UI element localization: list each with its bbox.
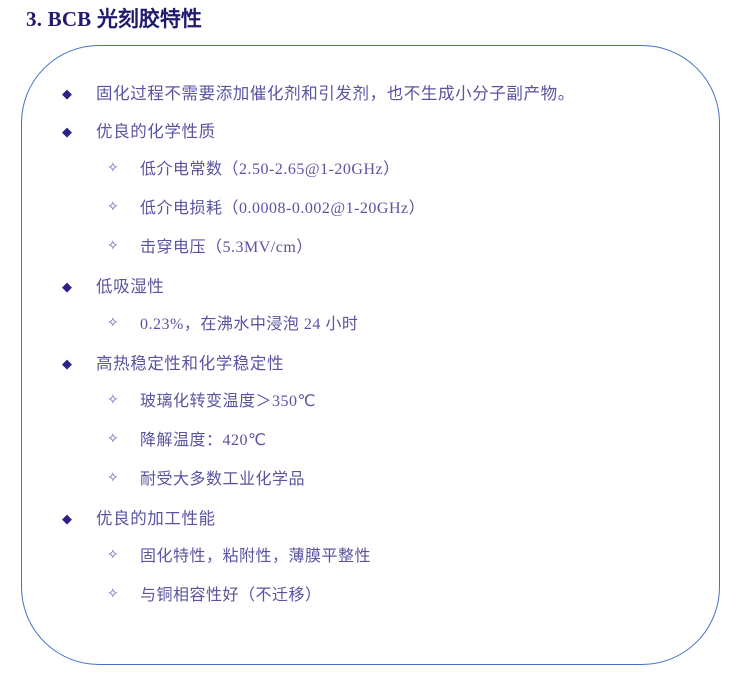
- bullet-text: 低介电常数（2.50-2.65@1-20GHz）: [140, 158, 719, 181]
- open-diamond-bullet-icon: ✧: [107, 390, 140, 408]
- bullet-item-level1: ◆固化过程不需要添加催化剂和引发剂，也不生成小分子副产物。: [22, 82, 719, 105]
- open-diamond-bullet-icon: ✧: [107, 545, 140, 563]
- bullet-text: 优良的加工性能: [96, 507, 719, 530]
- slide-canvas: 3. BCB 光刻胶特性 ◆固化过程不需要添加催化剂和引发剂，也不生成小分子副产…: [0, 0, 744, 673]
- bullet-text: 降解温度：420℃: [140, 429, 719, 452]
- bullet-item-level2: ✧与铜相容性好（不迁移）: [22, 584, 719, 607]
- bullet-text: 耐受大多数工业化学品: [140, 468, 719, 491]
- bullet-item-level2: ✧玻璃化转变温度＞350℃: [22, 390, 719, 413]
- page-title: 3. BCB 光刻胶特性: [26, 6, 202, 32]
- bullet-item-level2: ✧耐受大多数工业化学品: [22, 468, 719, 491]
- bullet-text: 固化特性，粘附性，薄膜平整性: [140, 545, 719, 568]
- bullet-item-level2: ✧击穿电压（5.3MV/cm）: [22, 236, 719, 259]
- filled-diamond-bullet-icon: ◆: [62, 275, 96, 293]
- open-diamond-bullet-icon: ✧: [107, 584, 140, 602]
- bullet-item-level1: ◆低吸湿性: [22, 275, 719, 298]
- bullet-item-level1: ◆高热稳定性和化学稳定性: [22, 352, 719, 375]
- page-title-number: 3.: [26, 7, 42, 31]
- bullet-item-level2: ✧低介电常数（2.50-2.65@1-20GHz）: [22, 158, 719, 181]
- bullet-text: 固化过程不需要添加催化剂和引发剂，也不生成小分子副产物。: [96, 82, 719, 105]
- bullet-text: 与铜相容性好（不迁移）: [140, 584, 719, 607]
- bullet-text: 0.23%，在沸水中浸泡 24 小时: [140, 313, 719, 336]
- bullet-text: 低介电损耗（0.0008-0.002@1-20GHz）: [140, 197, 719, 220]
- bullet-item-level1: ◆优良的加工性能: [22, 507, 719, 530]
- open-diamond-bullet-icon: ✧: [107, 468, 140, 486]
- bullet-text: 优良的化学性质: [96, 120, 719, 143]
- filled-diamond-bullet-icon: ◆: [62, 120, 96, 138]
- open-diamond-bullet-icon: ✧: [107, 158, 140, 176]
- rounded-content-box: ◆固化过程不需要添加催化剂和引发剂，也不生成小分子副产物。◆优良的化学性质✧低介…: [21, 45, 720, 665]
- open-diamond-bullet-icon: ✧: [107, 197, 140, 215]
- bullet-item-level2: ✧固化特性，粘附性，薄膜平整性: [22, 545, 719, 568]
- filled-diamond-bullet-icon: ◆: [62, 82, 96, 100]
- bullet-text: 高热稳定性和化学稳定性: [96, 352, 719, 375]
- open-diamond-bullet-icon: ✧: [107, 429, 140, 447]
- filled-diamond-bullet-icon: ◆: [62, 352, 96, 370]
- filled-diamond-bullet-icon: ◆: [62, 507, 96, 525]
- bullet-text: 低吸湿性: [96, 275, 719, 298]
- bullet-item-level2: ✧降解温度：420℃: [22, 429, 719, 452]
- bullet-text: 玻璃化转变温度＞350℃: [140, 390, 719, 413]
- open-diamond-bullet-icon: ✧: [107, 313, 140, 331]
- bullet-item-level2: ✧低介电损耗（0.0008-0.002@1-20GHz）: [22, 197, 719, 220]
- bullet-text: 击穿电压（5.3MV/cm）: [140, 236, 719, 259]
- bullet-list: ◆固化过程不需要添加催化剂和引发剂，也不生成小分子副产物。◆优良的化学性质✧低介…: [22, 82, 719, 623]
- page-title-cjk: 光刻胶特性: [97, 7, 202, 31]
- open-diamond-bullet-icon: ✧: [107, 236, 140, 254]
- bullet-item-level2: ✧0.23%，在沸水中浸泡 24 小时: [22, 313, 719, 336]
- page-title-latin: BCB: [48, 7, 92, 31]
- bullet-item-level1: ◆优良的化学性质: [22, 120, 719, 143]
